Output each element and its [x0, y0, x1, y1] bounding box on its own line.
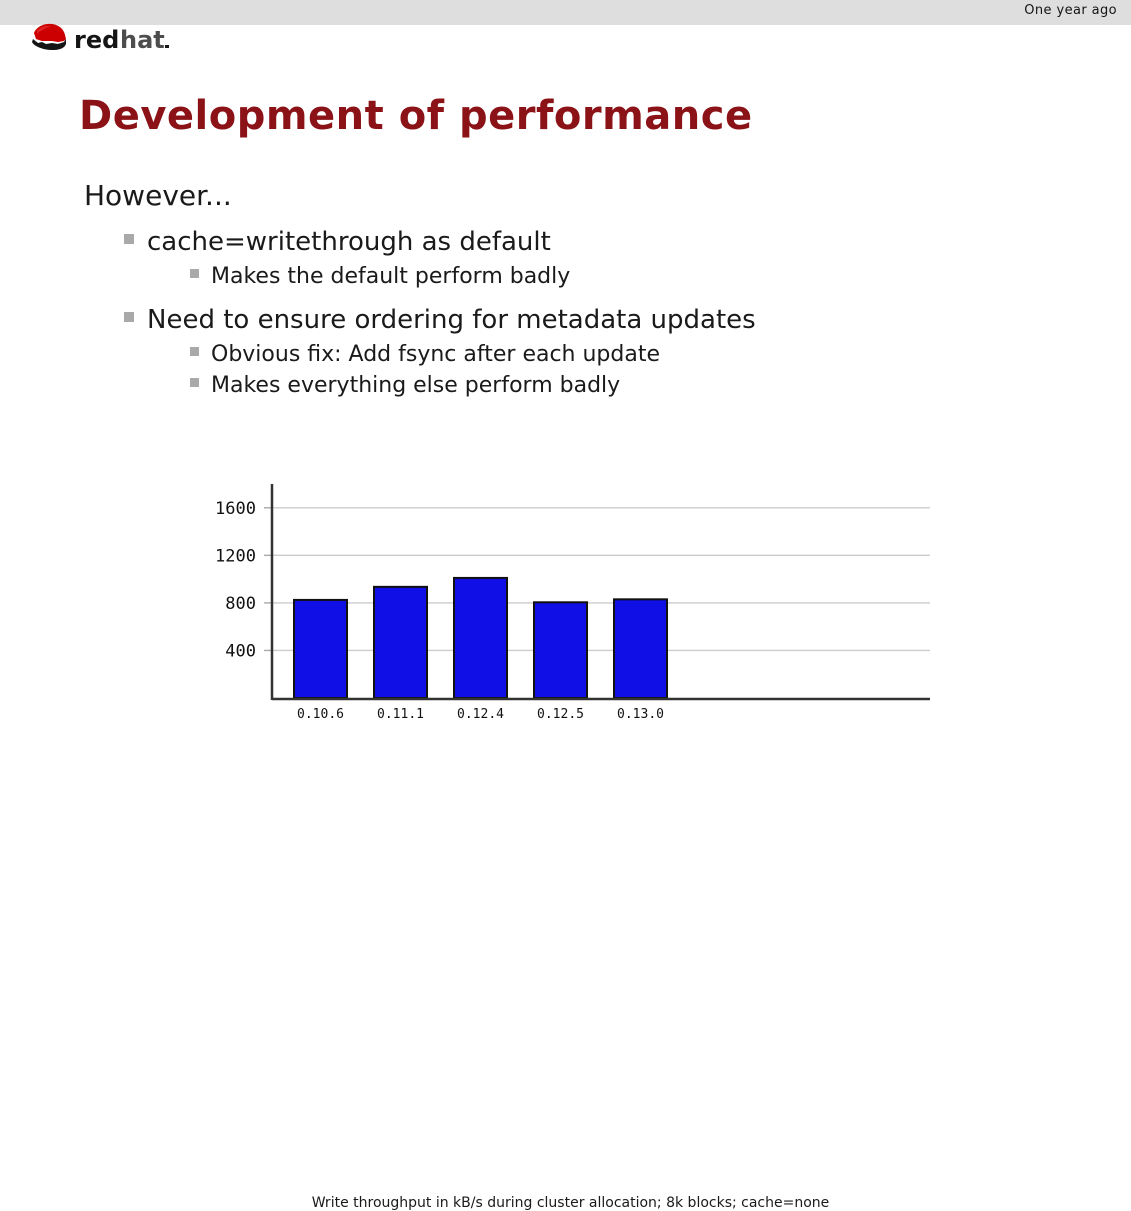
bullet-item: cache=writethrough as default — [124, 227, 1044, 257]
bullet-label: cache=writethrough as default — [147, 227, 551, 257]
square-bullet-icon — [124, 234, 134, 244]
y-axis-tick-label: 800 — [225, 594, 256, 614]
bullet-label: Obvious fix: Add fsync after each update — [211, 342, 660, 367]
chart-bar — [454, 578, 507, 698]
chart-bars — [294, 578, 667, 698]
y-axis-tick-label: 1600 — [215, 499, 256, 519]
chart-y-axis-labels: 40080012001600 — [215, 499, 256, 662]
square-bullet-icon — [190, 347, 199, 356]
bullet-item: Obvious fix: Add fsync after each update — [190, 342, 1044, 367]
bar-chart: 40080012001600 0.10.60.11.10.12.40.12.50… — [0, 462, 1131, 762]
chart-caption-text: Write throughput in kB/s during cluster … — [312, 1195, 830, 1211]
x-axis-tick-label: 0.10.6 — [297, 707, 344, 722]
y-axis-tick-label: 400 — [225, 641, 256, 661]
y-axis-tick-label: 1200 — [215, 546, 256, 566]
chart-gridlines — [264, 508, 930, 651]
chart-x-axis-labels: 0.10.60.11.10.12.40.12.50.13.0 — [297, 707, 664, 722]
intro-line: However... — [84, 182, 1044, 210]
bullet-label: Makes the default perform badly — [211, 264, 570, 289]
chart-caption: Write throughput in kB/s during cluster … — [0, 1195, 1131, 1211]
bullet-list: However... cache=writethrough as default… — [84, 182, 1044, 404]
x-axis-tick-label: 0.13.0 — [617, 707, 664, 722]
chart-bar — [534, 602, 587, 698]
svg-text:hat: hat — [120, 26, 165, 54]
chart-bar — [294, 600, 347, 698]
svg-text:red: red — [74, 26, 119, 54]
corner-note: One year ago — [1024, 3, 1117, 18]
shadowman-icon — [32, 24, 66, 50]
bullet-label: Makes everything else perform badly — [211, 373, 620, 398]
bullet-item: Makes everything else perform badly — [190, 373, 1044, 398]
bullet-item: Makes the default perform badly — [190, 264, 1044, 289]
square-bullet-icon — [190, 269, 199, 278]
x-axis-tick-label: 0.12.4 — [457, 707, 504, 722]
square-bullet-icon — [190, 378, 199, 387]
x-axis-tick-label: 0.12.5 — [537, 707, 584, 722]
bullet-item: Need to ensure ordering for metadata upd… — [124, 305, 1044, 335]
square-bullet-icon — [124, 312, 134, 322]
chart-bar — [374, 587, 427, 698]
chart-bar — [614, 599, 667, 698]
x-axis-tick-label: 0.11.1 — [377, 707, 424, 722]
page-title: Development of performance — [79, 93, 753, 139]
bullet-label: Need to ensure ordering for metadata upd… — [147, 305, 756, 335]
redhat-wordmark: red hat — [74, 26, 169, 54]
redhat-logo: red hat — [28, 21, 188, 55]
